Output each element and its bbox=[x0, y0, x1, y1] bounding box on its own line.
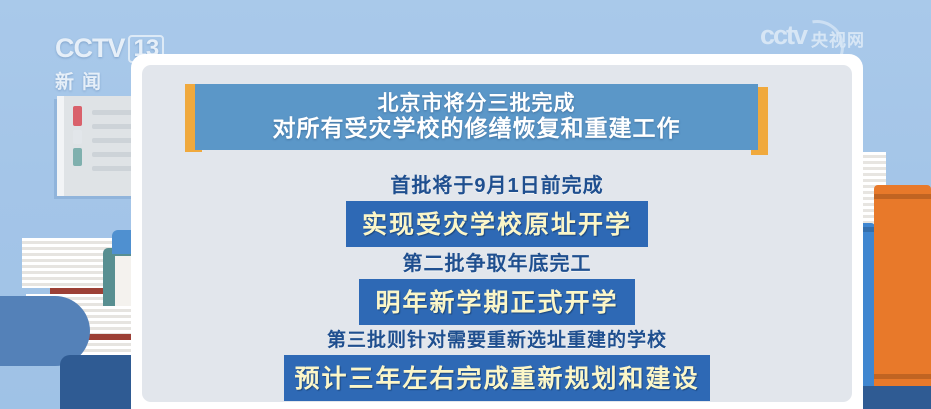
phase-item-3: 第三批则针对需要重新选址重建的学校 预计三年左右完成重新规划和建设 bbox=[142, 325, 852, 401]
upright-book-orange bbox=[874, 185, 931, 387]
channel-logo-text: CCTV bbox=[55, 33, 125, 64]
phase-3-highlight: 预计三年左右完成重新规划和建设 bbox=[284, 355, 709, 401]
title-line-2: 对所有受灾学校的修缮恢复和重建工作 bbox=[273, 116, 681, 142]
phase-3-lead: 第三批则针对需要重新选址重建的学校 bbox=[142, 325, 852, 352]
phase-1-lead: 首批将于9月1日前完成 bbox=[142, 169, 852, 198]
broadcast-screen: CCTV 13 新闻 cctv 央视网 com 北京市将分三批完成 对所有受灾学… bbox=[0, 0, 931, 409]
phase-1-highlight: 实现受灾学校原址开学 bbox=[346, 201, 648, 247]
title-banner: 北京市将分三批完成 对所有受灾学校的修缮恢复和重建工作 bbox=[185, 84, 768, 152]
phase-item-2: 第二批争取年底完工 明年新学期正式开学 bbox=[142, 247, 852, 325]
title-line-1: 北京市将分三批完成 bbox=[378, 92, 576, 116]
phase-2-lead: 第二批争取年底完工 bbox=[142, 247, 852, 276]
phase-2-highlight: 明年新学期正式开学 bbox=[359, 279, 634, 325]
info-panel: 北京市将分三批完成 对所有受灾学校的修缮恢复和重建工作 首批将于9月1日前完成 … bbox=[142, 65, 852, 402]
phase-item-1: 首批将于9月1日前完成 实现受灾学校原址开学 bbox=[142, 169, 852, 247]
